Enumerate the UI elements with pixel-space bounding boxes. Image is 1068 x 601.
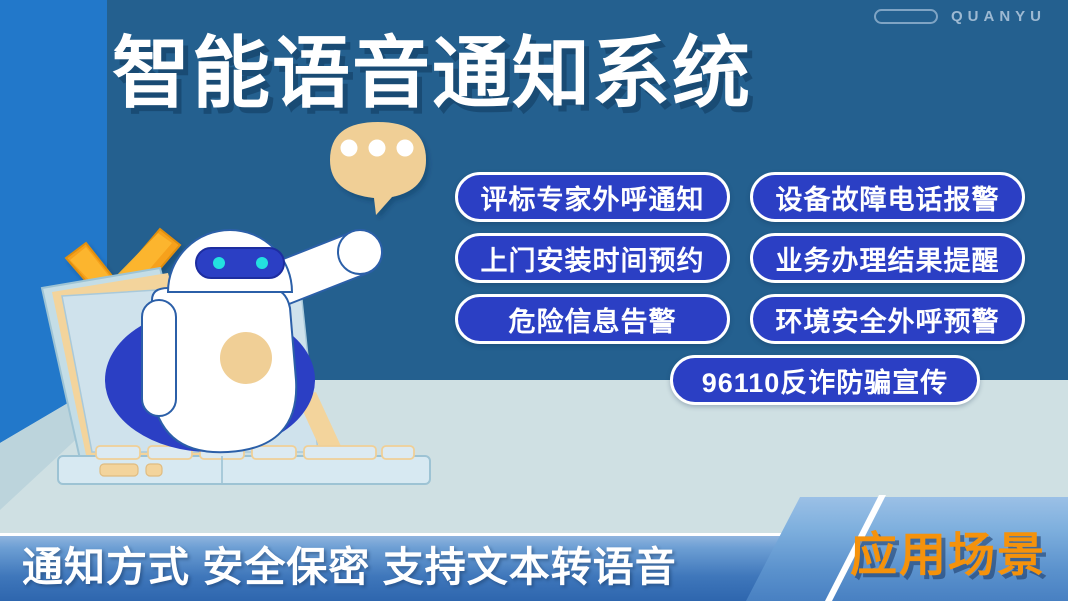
feature-pill[interactable]: 环境安全外呼预警 (750, 294, 1025, 344)
robot-illustration (0, 0, 460, 601)
robot-visor (196, 248, 284, 278)
feature-pill[interactable]: 96110反诈防骗宣传 (670, 355, 980, 405)
brand-logo: QUANYU (874, 8, 1046, 25)
feature-pill[interactable]: 危险信息告警 (455, 294, 730, 344)
feature-pill-row: 危险信息告警 环境安全外呼预警 (455, 294, 1055, 344)
feature-pill-row: 上门安装时间预约 业务办理结果提醒 (455, 233, 1055, 283)
feature-pill-row: 96110反诈防骗宣传 (455, 355, 1055, 405)
robot-eye-right (256, 257, 268, 269)
speech-bubble-icon (330, 122, 426, 215)
pill-outline-icon (874, 9, 938, 24)
robot-mascot (142, 230, 382, 452)
feature-pill[interactable]: 评标专家外呼通知 (455, 172, 730, 222)
feature-pill[interactable]: 业务办理结果提醒 (750, 233, 1025, 283)
brand-name: QUANYU (951, 8, 1046, 25)
robot-eye-left (213, 257, 225, 269)
footer-tagline: 通知方式 安全保密 支持文本转语音 (22, 533, 677, 593)
feature-pill-list: 评标专家外呼通知 设备故障电话报警 上门安装时间预约 业务办理结果提醒 危险信息… (455, 172, 1055, 416)
feature-pill-row: 评标专家外呼通知 设备故障电话报警 (455, 172, 1055, 222)
robot-belly (220, 332, 272, 384)
feature-pill[interactable]: 设备故障电话报警 (750, 172, 1025, 222)
poster-canvas: QUANYU 智能语音通知系统 (0, 0, 1068, 601)
scene-label: 应用场景 (850, 516, 1046, 585)
feature-pill[interactable]: 上门安装时间预约 (455, 233, 730, 283)
